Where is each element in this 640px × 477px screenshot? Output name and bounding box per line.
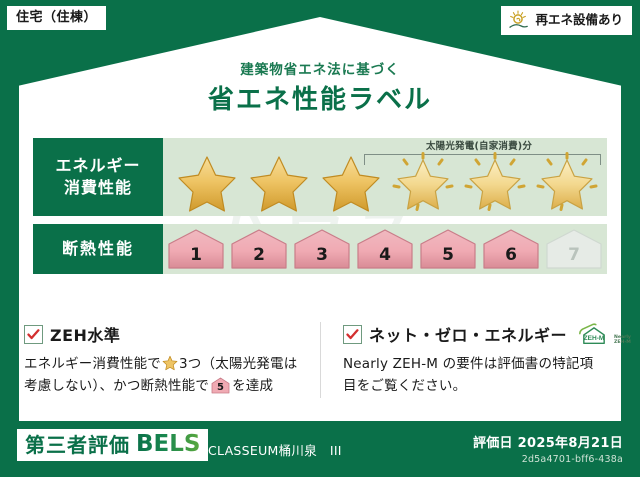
zeh-m-sub-line2: ZEH-M bbox=[614, 340, 631, 345]
solar-bracket-label: 太陽光発電(自家消費)分 bbox=[359, 138, 599, 152]
insulation-level-7: 7 bbox=[544, 228, 604, 270]
zeh-m-house-icon: ZEH-M bbox=[576, 323, 612, 346]
zeh-body-part4: を達成 bbox=[232, 378, 273, 394]
star-solar-icon bbox=[534, 152, 600, 212]
zeh-standard-block: ZEH水準 エネルギー消費性能で3つ（太陽光発電は考慮しない）、かつ断熱性能で5… bbox=[24, 322, 320, 398]
energy-label-line1: エネルギー bbox=[55, 155, 140, 177]
bels-prefix: 第三者評価 bbox=[25, 435, 130, 455]
zeh-standard-header: ZEH水準 bbox=[24, 322, 308, 346]
zeh-body-part2: 3つ（太陽光発電 bbox=[179, 356, 284, 372]
net-zero-energy-block: ネット・ゼロ・エネルギー ZEH-M Nearly ZEH-M Nearly Z… bbox=[320, 322, 616, 398]
ratings-section: エネルギー 消費性能 太陽光発電(自家消費)分 bbox=[33, 138, 607, 282]
evaluation-info: 評価日 2025年8月21日 2d5a4701-bff6-438a bbox=[473, 432, 623, 465]
insulation-level-value: 6 bbox=[481, 247, 541, 264]
zeh-m-logo: ZEH-M Nearly ZEH-M bbox=[576, 323, 631, 346]
insulation-level-value: 5 bbox=[418, 247, 478, 264]
insulation-level-6: 6 bbox=[481, 228, 541, 270]
insulation-level-5: 5 bbox=[418, 228, 478, 270]
zeh-body-part1: エネルギー消費性能で bbox=[24, 356, 161, 372]
insulation-performance-label: 断熱性能 bbox=[33, 224, 163, 274]
insulation-level-inline-icon: 5 bbox=[211, 377, 230, 394]
insulation-level-value: 4 bbox=[355, 247, 415, 264]
insulation-level-value: 3 bbox=[292, 247, 352, 264]
star-icon bbox=[174, 152, 240, 212]
bels-logo-text: BELS bbox=[136, 433, 200, 456]
check-icon bbox=[24, 325, 43, 344]
zeh-standard-title: ZEH水準 bbox=[50, 322, 120, 346]
energy-stars-panel: 太陽光発電(自家消費)分 bbox=[163, 138, 607, 216]
building-type-tag: 住宅（住棟） bbox=[7, 6, 106, 30]
evaluation-date: 評価日 2025年8月21日 bbox=[473, 432, 623, 451]
insulation-performance-row: 断熱性能 1 2 bbox=[33, 224, 607, 274]
evaluation-id: 2d5a4701-bff6-438a bbox=[473, 454, 623, 465]
star-rating bbox=[171, 152, 603, 212]
insulation-level-value: 7 bbox=[544, 247, 604, 264]
insulation-levels-panel: 1 2 3 4 bbox=[163, 224, 607, 274]
sun-icon bbox=[508, 10, 530, 30]
insulation-level-value: 1 bbox=[166, 247, 226, 264]
energy-label-line2: 消費性能 bbox=[64, 177, 132, 199]
zeh-standard-body: エネルギー消費性能で3つ（太陽光発電は考慮しない）、かつ断熱性能で5を達成 bbox=[24, 354, 308, 398]
insulation-level-1: 1 bbox=[166, 228, 226, 270]
insulation-level-inline-value: 5 bbox=[211, 383, 230, 393]
label-root: ハウス 住宅（住棟） 再エネ設備あり 建築物省エネ法に基づく 省エネ性能ラベル bbox=[0, 0, 640, 477]
renewable-badge-label: 再エネ設備あり bbox=[535, 14, 623, 27]
zeh-m-logo-sub: Nearly ZEH-M bbox=[614, 335, 631, 345]
net-zero-energy-body: Nearly ZEH-M の要件は評価書の特記項目をご覧ください。 bbox=[343, 354, 604, 398]
bels-mark: 第三者評価 BELS bbox=[17, 429, 208, 461]
star-icon bbox=[318, 152, 384, 212]
star-icon bbox=[246, 152, 312, 212]
zeh-section: ZEH水準 エネルギー消費性能で3つ（太陽光発電は考慮しない）、かつ断熱性能で5… bbox=[24, 322, 616, 398]
energy-performance-label: エネルギー 消費性能 bbox=[33, 138, 163, 216]
insulation-level-value: 2 bbox=[229, 247, 289, 264]
label-subtitle: 建築物省エネ法に基づく bbox=[0, 58, 640, 78]
net-zero-energy-header: ネット・ゼロ・エネルギー ZEH-M Nearly ZEH-M bbox=[343, 322, 604, 346]
svg-text:ZEH-M: ZEH-M bbox=[584, 334, 605, 341]
insulation-level-2: 2 bbox=[229, 228, 289, 270]
renewable-energy-badge: 再エネ設備あり bbox=[501, 6, 632, 35]
insulation-level-scale: 1 2 3 4 bbox=[163, 228, 607, 270]
insulation-level-4: 4 bbox=[355, 228, 415, 270]
label-title: 省エネ性能ラベル bbox=[0, 79, 640, 116]
check-icon bbox=[343, 325, 362, 344]
net-zero-energy-title: ネット・ゼロ・エネルギー bbox=[369, 322, 567, 346]
star-solar-icon bbox=[390, 152, 456, 212]
energy-performance-row: エネルギー 消費性能 太陽光発電(自家消費)分 bbox=[33, 138, 607, 216]
star-solar-icon bbox=[462, 152, 528, 212]
footer: 第三者評価 BELS CLASSEUM桶川泉 III 評価日 2025年8月21… bbox=[0, 421, 640, 477]
star-icon bbox=[162, 355, 178, 371]
building-name: CLASSEUM桶川泉 III bbox=[208, 440, 342, 459]
insulation-level-3: 3 bbox=[292, 228, 352, 270]
